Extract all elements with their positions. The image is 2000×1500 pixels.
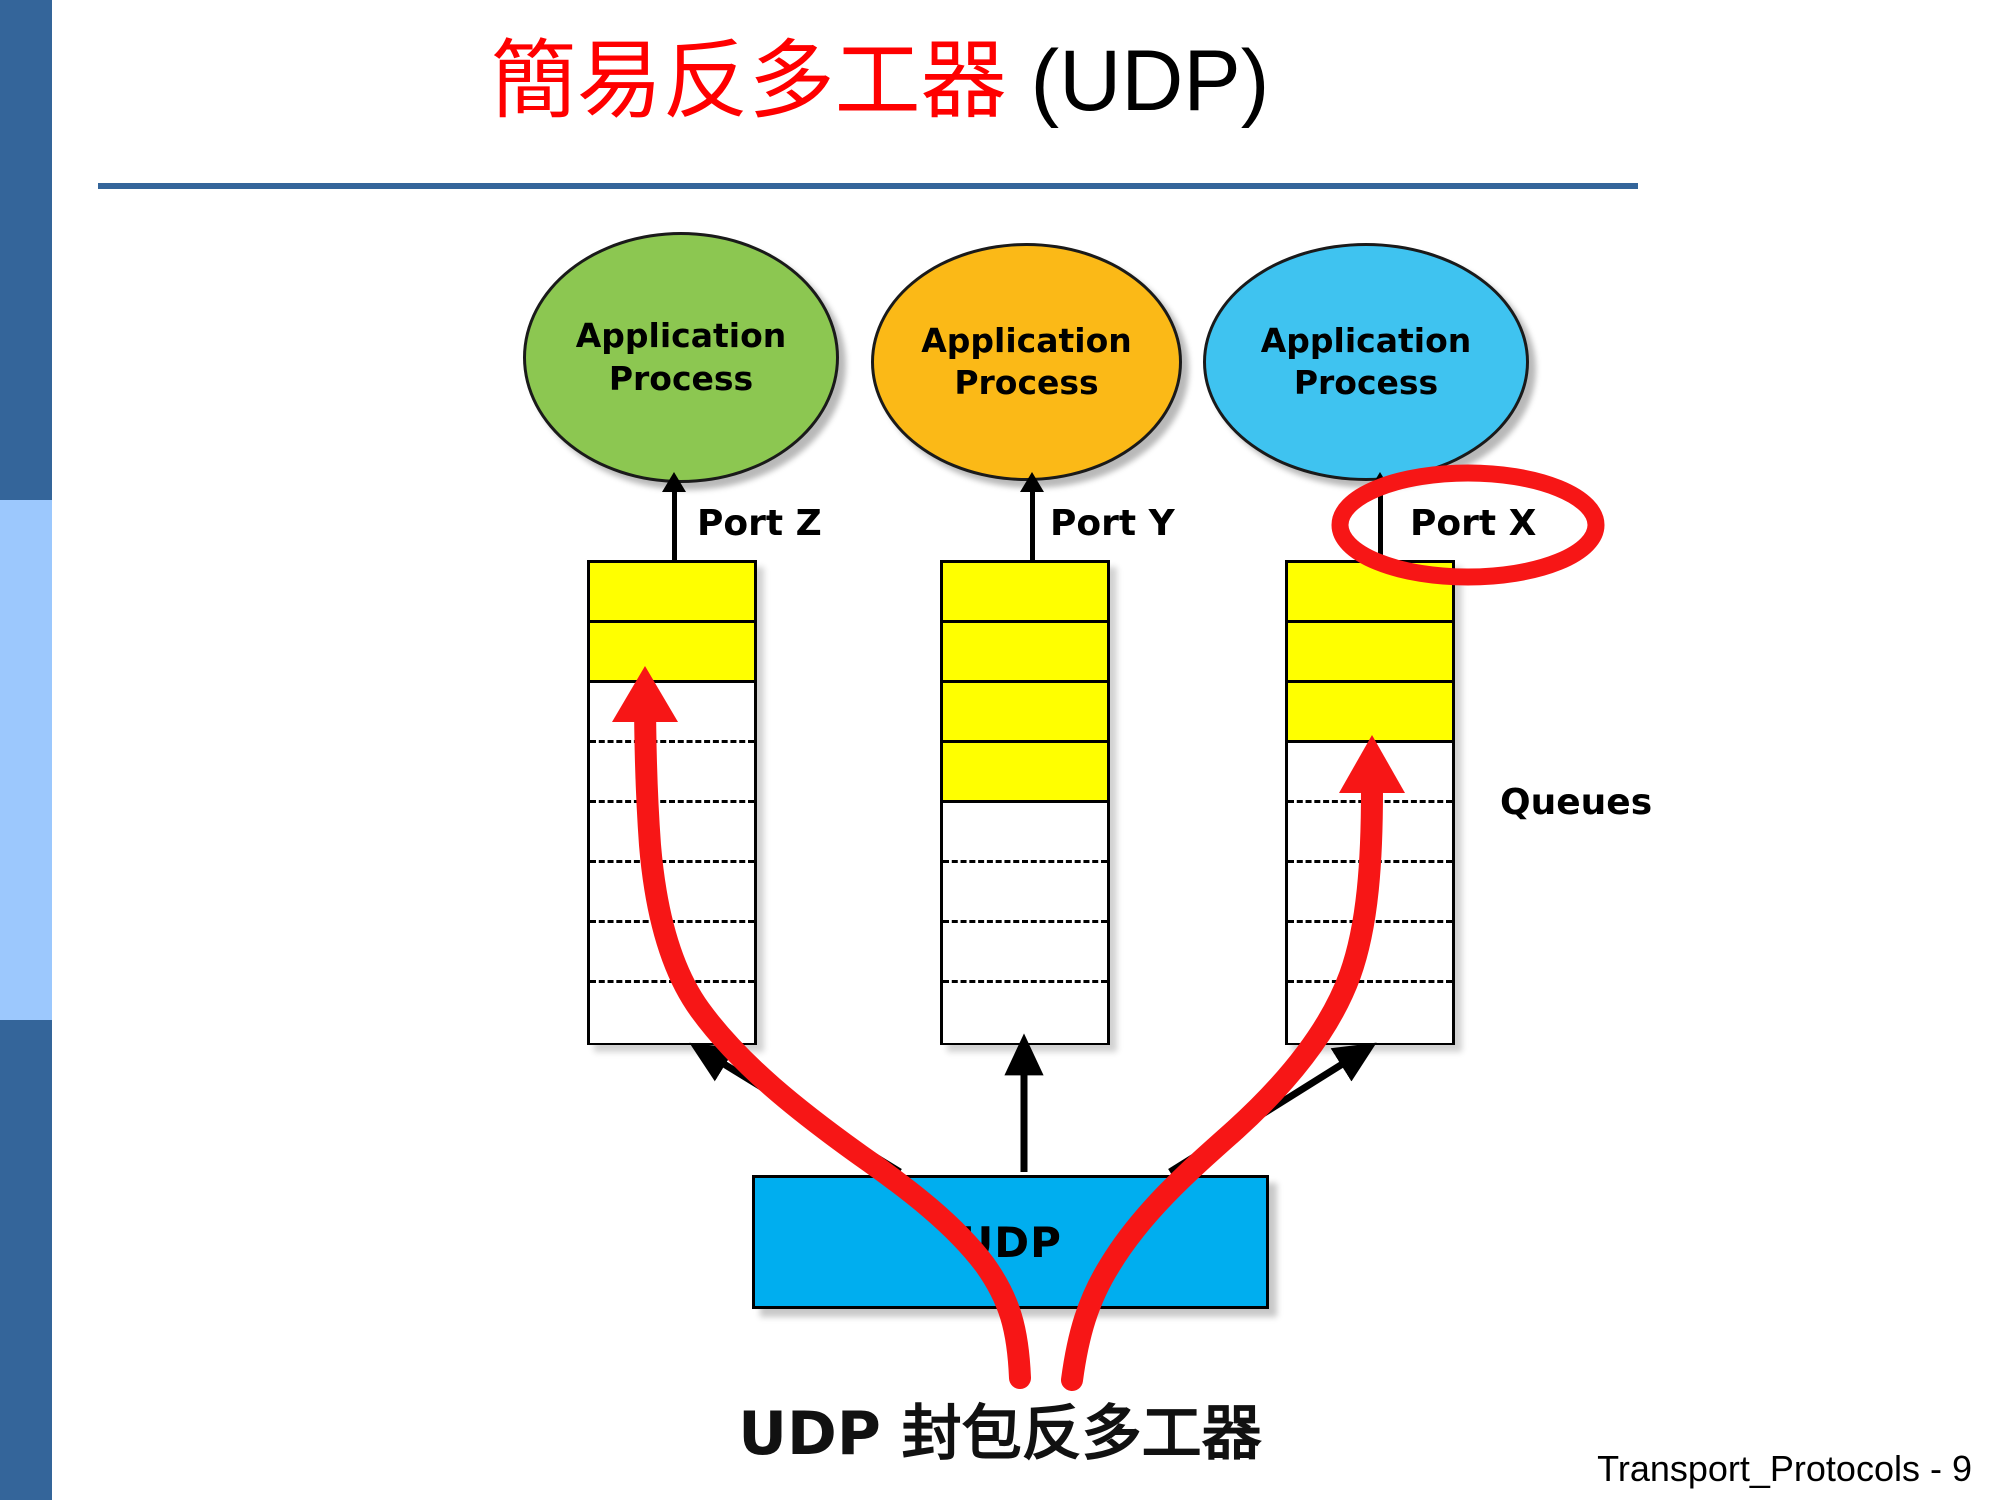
queue-cell-filled (943, 683, 1107, 743)
queue-cell-filled (943, 623, 1107, 683)
udp-to-queue-z-arrow-icon (706, 1053, 900, 1172)
queue-cell-empty (943, 923, 1107, 983)
port-x-up-arrow-icon (1378, 490, 1383, 565)
queue-cell-empty (590, 923, 754, 983)
sidebar-bar-middle (0, 500, 52, 1020)
queue-cell-filled (943, 743, 1107, 803)
queue-cell-filled (1288, 563, 1452, 623)
queue-column-x (1285, 560, 1455, 1045)
queue-cell-empty (590, 683, 754, 743)
queue-cell-empty (1288, 863, 1452, 923)
application-process-x-line2: Process (1261, 362, 1472, 404)
page-title-chinese: 簡易反多工器 (491, 31, 1007, 131)
queue-cell-filled (590, 623, 754, 683)
application-process-y-line2: Process (921, 362, 1132, 404)
udp-to-queue-x-arrow-icon (1170, 1053, 1360, 1172)
port-label-y: Port Y (1050, 503, 1175, 544)
queue-cell-filled (1288, 683, 1452, 743)
queues-label: Queues (1500, 782, 1652, 823)
queue-cell-empty (1288, 923, 1452, 983)
queue-column-y (940, 560, 1110, 1045)
queue-cell-empty (943, 863, 1107, 923)
port-z-up-arrow-icon (672, 490, 677, 565)
queue-cell-empty (1288, 803, 1452, 863)
queue-column-z (587, 560, 757, 1045)
port-label-z: Port Z (697, 503, 822, 544)
page-title: 簡易反多工器 (UDP) (100, 36, 1660, 126)
queue-cell-empty (1288, 983, 1452, 1043)
queue-cell-empty (943, 983, 1107, 1043)
udp-layer-box: UDP (752, 1175, 1269, 1309)
application-process-y-line1: Application (921, 320, 1132, 362)
application-process-z-line1: Application (576, 315, 787, 357)
queue-cell-empty (590, 863, 754, 923)
queue-cell-empty (590, 743, 754, 803)
port-y-up-arrow-icon (1030, 490, 1035, 565)
port-label-x: Port X (1410, 503, 1536, 544)
queue-cell-empty (943, 803, 1107, 863)
queue-cell-empty (590, 983, 754, 1043)
page-title-english: (UDP) (1007, 33, 1270, 129)
application-process-x: Application Process (1203, 243, 1529, 481)
application-process-y: Application Process (871, 243, 1182, 481)
sidebar-bar-top (0, 0, 52, 500)
udp-box-label: UDP (959, 1218, 1062, 1267)
slide-footer: Transport_Protocols - 9 (1597, 1448, 1972, 1490)
queue-cell-filled (1288, 623, 1452, 683)
application-process-x-line1: Application (1261, 320, 1472, 362)
queue-cell-filled (943, 563, 1107, 623)
queue-cell-filled (590, 563, 754, 623)
application-process-z: Application Process (523, 232, 839, 483)
queue-cell-empty (1288, 743, 1452, 803)
application-process-z-line2: Process (576, 358, 787, 400)
queue-cell-empty (590, 803, 754, 863)
title-divider (98, 183, 1638, 189)
